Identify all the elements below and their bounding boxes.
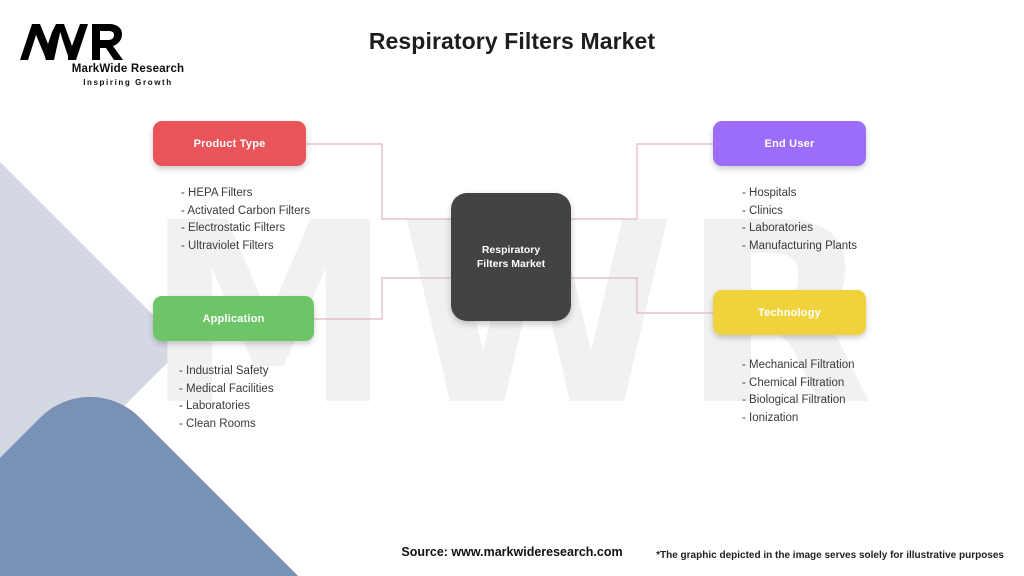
list-item: - Hospitals	[742, 185, 866, 203]
group-application: Application - Industrial Safety - Medica…	[153, 296, 314, 434]
list-item: - Laboratories	[179, 398, 314, 416]
list-item: - Chemical Filtration	[742, 375, 866, 393]
list-item: - Manufacturing Plants	[742, 238, 866, 256]
chip-label-technology: Technology	[758, 307, 821, 319]
list-item: - Electrostatic Filters	[181, 220, 310, 238]
group-product-type: Product Type - HEPA Filters - Activated …	[153, 121, 310, 256]
chip-label-end-user: End User	[765, 138, 815, 150]
infographic-canvas: MWR MarkWide Research Inspiring Growth R…	[0, 0, 1024, 576]
list-item: - Ionization	[742, 410, 866, 428]
connector-technology	[571, 278, 713, 313]
connector-application	[314, 278, 451, 319]
list-item: - Industrial Safety	[179, 363, 314, 381]
list-item: - Laboratories	[742, 220, 866, 238]
disclaimer-label: *The graphic depicted in the image serve…	[656, 550, 1004, 561]
connector-product-type	[306, 144, 451, 219]
list-item: - HEPA Filters	[181, 185, 310, 203]
list-item: - Clean Rooms	[179, 416, 314, 434]
item-list-technology: - Mechanical Filtration - Chemical Filtr…	[713, 357, 866, 428]
connector-end-user	[571, 144, 713, 219]
chip-label-product-type: Product Type	[194, 138, 266, 150]
list-item: - Biological Filtration	[742, 392, 866, 410]
hub-label: Respiratory Filters Market	[465, 243, 557, 271]
list-item: - Clinics	[742, 203, 866, 221]
chip-end-user[interactable]: End User	[713, 121, 866, 166]
item-list-product-type: - HEPA Filters - Activated Carbon Filter…	[153, 185, 310, 256]
list-item: - Medical Facilities	[179, 381, 314, 399]
chip-label-application: Application	[202, 313, 264, 325]
group-end-user: End User - Hospitals - Clinics - Laborat…	[713, 121, 866, 256]
list-item: - Activated Carbon Filters	[181, 203, 310, 221]
chip-technology[interactable]: Technology	[713, 290, 866, 335]
item-list-end-user: - Hospitals - Clinics - Laboratories - M…	[713, 185, 866, 256]
list-item: - Mechanical Filtration	[742, 357, 866, 375]
hub-node: Respiratory Filters Market	[451, 193, 571, 321]
chip-application[interactable]: Application	[153, 296, 314, 341]
list-item: - Ultraviolet Filters	[181, 238, 310, 256]
item-list-application: - Industrial Safety - Medical Facilities…	[153, 363, 314, 434]
chip-product-type[interactable]: Product Type	[153, 121, 306, 166]
group-technology: Technology - Mechanical Filtration - Che…	[713, 290, 866, 428]
